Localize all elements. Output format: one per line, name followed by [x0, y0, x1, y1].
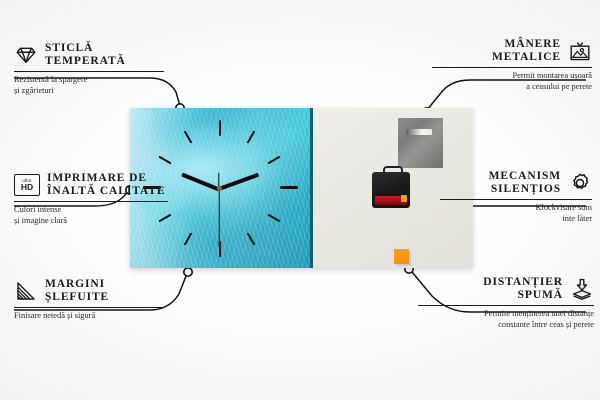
ultra-hd-icon: ultra HD: [14, 174, 40, 196]
feature-rule: [14, 71, 164, 72]
feature-header: MÂNERE METALICE: [432, 38, 592, 64]
feature-title: IMPRIMARE DE ÎNALTĂ CALITATE: [47, 172, 165, 198]
feature-header: DISTANȚIER SPUMĂ: [418, 276, 594, 302]
diamond-icon: [14, 43, 38, 67]
second-hand: [218, 189, 219, 247]
feature-tempered-glass: STICLĂ TEMPERATĂ Rezistentă la spargere …: [14, 42, 164, 96]
polished-edge-icon: [14, 279, 38, 303]
feature-title: MÂNERE METALICE: [492, 38, 561, 64]
feature-rule: [14, 307, 164, 308]
feature-description: Rezistentă la spargere și zgârieturi: [14, 75, 164, 96]
gear-icon: [568, 171, 592, 195]
hanger-plate: [398, 118, 443, 168]
tick-3: [280, 186, 298, 189]
feature-description: Permit montarea ușoară a ceasului pe per…: [432, 71, 592, 92]
feature-metal-hooks: MÂNERE METALICE Permit montarea ușoară a…: [432, 38, 592, 92]
feature-rule: [14, 201, 168, 202]
feature-high-quality-print: ultra HD IMPRIMARE DE ÎNALTĂ CALITATE Cu…: [14, 172, 168, 226]
feature-rule: [440, 199, 592, 200]
feature-description: Klockvisare som inte låter: [440, 203, 592, 224]
press-down-pad-icon: [570, 277, 594, 301]
ultra-hd-icon-main-label: HD: [21, 183, 33, 192]
feature-title: MARGINI ȘLEFUITE: [45, 278, 109, 304]
feature-title: MECANISM SILENȚIOS: [489, 170, 561, 196]
feature-rule: [418, 305, 594, 306]
feature-description: Culori intense și imagine clară: [14, 205, 168, 226]
picture-frame-hanger-icon: [568, 39, 592, 63]
feature-title: STICLĂ TEMPERATĂ: [45, 42, 126, 68]
foam-spacer: [394, 249, 409, 264]
infographic-stage: STICLĂ TEMPERATĂ Rezistentă la spargere …: [0, 0, 600, 400]
feature-header: ultra HD IMPRIMARE DE ÎNALTĂ CALITATE: [14, 172, 168, 198]
feature-header: MARGINI ȘLEFUITE: [14, 278, 164, 304]
leader-node-edges: [184, 268, 192, 276]
feature-title: DISTANȚIER SPUMĂ: [483, 276, 563, 302]
feature-rule: [432, 67, 592, 68]
tick-12: [219, 120, 221, 136]
feature-description: Finisare netedă și sigură: [14, 311, 164, 321]
feature-polished-edges: MARGINI ȘLEFUITE Finisare netedă și sigu…: [14, 278, 164, 322]
battery-terminal: [401, 195, 407, 202]
hands-center-cap: [217, 186, 222, 191]
hanger-keyhole-slot: [406, 129, 432, 135]
feature-header: MECANISM SILENȚIOS: [440, 170, 592, 196]
feature-description: Permite menținerea unei distanțe constan…: [418, 309, 594, 330]
feature-foam-spacer: DISTANȚIER SPUMĂ Permite menținerea unei…: [418, 276, 594, 330]
feature-header: STICLĂ TEMPERATĂ: [14, 42, 164, 68]
feature-silent-mechanism: MECANISM SILENȚIOS Klockvisare som inte …: [440, 170, 592, 224]
